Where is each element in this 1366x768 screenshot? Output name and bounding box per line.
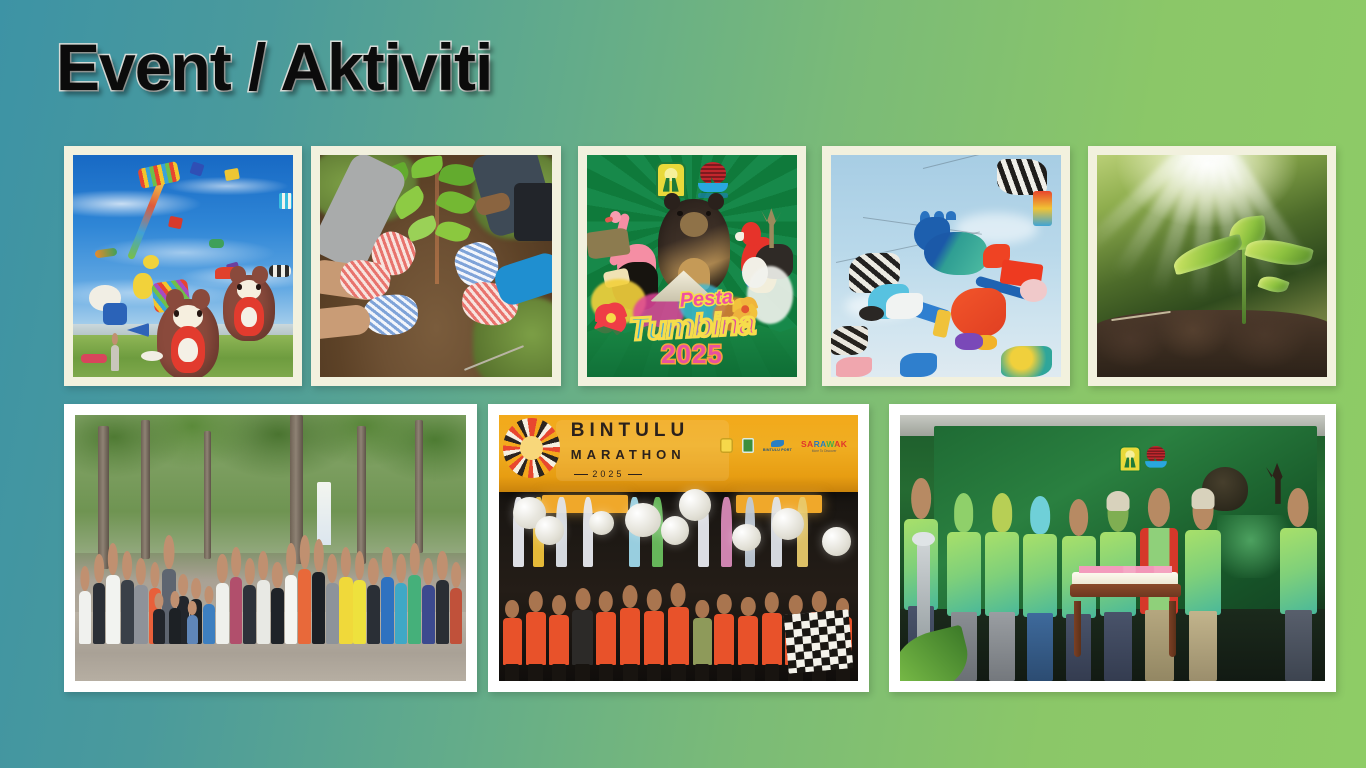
official-far-right — [1280, 484, 1316, 681]
chipmunk-mascot-kite-right — [223, 275, 275, 341]
sun-bear-illustration — [658, 199, 729, 292]
gallery-frame-bintulu-marathon[interactable]: BINTULU MARATHON 2025 BINTULU PORT SARAW… — [488, 404, 869, 692]
seahorse-fin — [946, 211, 956, 221]
kite-blue-shirt — [103, 303, 127, 325]
official-head — [1148, 488, 1170, 527]
mascot-red-belly — [171, 326, 206, 372]
backdrop-logo-row — [1119, 446, 1167, 472]
participant — [79, 591, 91, 644]
kite-pale-pink-ball — [1020, 279, 1048, 301]
sarawak-label: SARAWAK — [801, 439, 847, 449]
official-shirt — [1280, 528, 1316, 615]
sunburst-logo-icon — [503, 418, 560, 478]
participant-child — [153, 609, 165, 644]
banner-title-bintulu: BINTULU — [571, 420, 689, 442]
gallery-frame-seedling[interactable] — [1088, 146, 1336, 386]
table-top — [1070, 584, 1181, 598]
macaw-head — [741, 222, 760, 246]
participant — [450, 588, 463, 644]
globe-icon — [1147, 446, 1166, 462]
sarawak-tourism-logo: SARAWAK More To Discover — [801, 439, 847, 453]
participant — [134, 585, 147, 644]
participant — [216, 583, 229, 644]
official-head — [1288, 488, 1309, 527]
table-leg-right — [1169, 601, 1176, 657]
participant — [298, 569, 311, 643]
official-head-cap — [1192, 491, 1213, 530]
bear-eye-left — [677, 211, 683, 217]
photo-tree-planting-hands — [320, 155, 552, 377]
participant — [230, 577, 243, 644]
photo-animal-kites-sky — [831, 155, 1061, 377]
kite-red-small — [168, 216, 183, 229]
photo-bintulu-marathon: BINTULU MARATHON 2025 BINTULU PORT SARAW… — [499, 415, 858, 681]
gallery-frame-pesta-tumbina[interactable]: Pesta Tumbina 2025 — [578, 146, 806, 386]
gallery-frame-tree-planting[interactable] — [311, 146, 561, 386]
crowd-of-participants — [75, 511, 466, 644]
participant — [312, 572, 325, 644]
wave-icon — [698, 183, 728, 192]
kite-dark-blob — [859, 306, 884, 322]
sapling-leaf — [435, 185, 475, 219]
participant — [408, 575, 421, 644]
sapling-leaf — [405, 215, 439, 242]
photo-seedling-soil — [1097, 155, 1327, 377]
feather-flag — [721, 497, 732, 566]
participant — [203, 604, 215, 644]
participant-child — [187, 615, 198, 644]
kite-smiley-round — [143, 255, 159, 269]
photo-kite-festival-mascots — [73, 155, 293, 377]
official-trousers — [1285, 610, 1312, 681]
sapling-leaf — [434, 216, 470, 245]
participant — [395, 583, 408, 644]
official-head-scarf — [1030, 496, 1050, 534]
sarawak-tagline: More To Discover — [812, 449, 837, 453]
white-balloon — [822, 527, 851, 556]
runner — [644, 611, 664, 665]
kite-yellow-bear — [133, 273, 153, 299]
runner — [714, 614, 734, 665]
official-head — [911, 478, 931, 519]
bear-ear-left — [664, 193, 680, 210]
official-man-cap-2 — [1185, 487, 1221, 681]
official-shirt — [1023, 534, 1057, 617]
runner — [596, 612, 616, 665]
participant — [285, 575, 298, 644]
official-trousers — [989, 612, 1015, 681]
mascot-eye-right — [256, 284, 261, 289]
gallery-frame-community-run[interactable] — [64, 404, 477, 692]
banner-title-year: 2025 — [592, 469, 624, 479]
globe-wave-logo — [1145, 446, 1167, 472]
macaw-beak — [735, 232, 744, 242]
kite-dark-tube — [269, 265, 291, 277]
official-head — [1069, 499, 1089, 536]
ground-kite-pile — [81, 354, 107, 363]
mascot-eye-left — [174, 310, 180, 316]
mascot-eye-left — [237, 284, 242, 289]
official-head-cap — [1107, 493, 1128, 531]
participant — [271, 588, 284, 644]
participant — [367, 585, 380, 644]
black-bag — [514, 183, 552, 241]
wave-icon — [1145, 461, 1167, 467]
kite-teal-yellow-bottom — [1001, 346, 1052, 377]
white-balloon — [679, 489, 711, 521]
banner-title-marathon: MARATHON — [571, 447, 686, 462]
kite-white-body — [886, 293, 923, 320]
page-title: Event / Aktiviti — [56, 33, 492, 102]
white-balloon — [625, 503, 661, 538]
runner — [526, 612, 546, 665]
kite-tail-rainbow-top — [1033, 191, 1051, 227]
marathon-start-arch-banner: BINTULU MARATHON 2025 BINTULU PORT SARAW… — [499, 415, 858, 492]
runner — [572, 610, 593, 665]
photo-community-run-crowd — [75, 415, 466, 681]
participant — [339, 577, 352, 644]
official-head-scarf — [954, 493, 974, 531]
participant — [381, 577, 394, 644]
official-shirt — [947, 532, 981, 616]
participant — [353, 580, 366, 644]
white-balloon — [535, 516, 564, 545]
official-shirt — [1185, 530, 1221, 615]
checkered-flag — [784, 609, 853, 673]
mascot-red-belly — [234, 297, 263, 335]
kite-green-blob — [209, 239, 224, 248]
runner — [762, 613, 782, 665]
table-leg-left — [1074, 601, 1081, 657]
kite-blue-bottom — [900, 353, 937, 377]
runner — [503, 618, 522, 665]
participant — [93, 583, 106, 644]
banner-sponsor-logos: BINTULU PORT SARAWAK More To Discover — [720, 438, 847, 453]
official-shirt — [985, 532, 1019, 616]
sarawak-state-crest-icon — [720, 438, 733, 453]
photo-cake-cutting-ceremony — [900, 415, 1325, 681]
official-head-scarf — [992, 493, 1012, 531]
bintulu-development-authority-icon — [742, 438, 754, 453]
kite-cyan-strip — [279, 193, 292, 209]
participant — [106, 575, 119, 644]
participant — [257, 580, 270, 644]
poster-title-year: 2025 — [587, 341, 797, 367]
gallery-frame-cake-ceremony[interactable] — [889, 404, 1336, 692]
globe-icon — [700, 162, 726, 184]
bear-eye-right — [706, 211, 712, 217]
runner — [668, 607, 689, 666]
runner — [620, 608, 641, 665]
official-woman-3 — [1023, 492, 1057, 681]
spectator-figure — [111, 345, 119, 371]
bear-snout — [680, 212, 709, 236]
chipmunk-mascot-kite-center — [157, 299, 219, 377]
participant — [436, 580, 449, 644]
bintulu-council-shield-logo — [1119, 446, 1141, 472]
sleeve-skin-left-lower — [320, 304, 371, 341]
seedling-plant — [1198, 217, 1290, 324]
official-woman-2 — [985, 489, 1019, 681]
kite-pink-fish-bottom — [836, 357, 873, 377]
kite-purple-small — [955, 333, 983, 351]
feather-flag — [583, 497, 594, 566]
seedling-leaf-small — [1257, 272, 1290, 296]
participant — [121, 580, 134, 644]
white-balloon — [732, 524, 761, 551]
bintulu-port-label: BINTULU PORT — [763, 448, 792, 452]
mascot-eye-right — [197, 310, 203, 316]
runner — [549, 615, 568, 665]
participant — [243, 585, 256, 644]
kite-black-bird-left — [831, 326, 868, 355]
white-balloon — [589, 511, 614, 535]
port-swoosh-icon — [771, 440, 784, 447]
official-trousers — [1027, 613, 1053, 681]
ground-white-kite — [141, 351, 163, 361]
runner — [738, 616, 758, 665]
white-balloon — [772, 508, 804, 540]
poster-logo-row — [587, 162, 797, 198]
cake-table — [1070, 572, 1181, 657]
photo-pesta-tumbina-poster: Pesta Tumbina 2025 — [587, 155, 797, 377]
runner — [693, 618, 712, 665]
participant-child — [169, 608, 181, 644]
kite-black-white-top — [997, 159, 1048, 195]
glove-blue-left-lower — [363, 293, 420, 337]
kite-orange-creature — [951, 288, 1006, 337]
participant — [326, 583, 339, 644]
bear-ear-right — [708, 193, 724, 210]
participant — [422, 585, 435, 644]
seahorse-body — [924, 232, 987, 275]
gallery-frame-kite-festival-mascots[interactable] — [64, 146, 302, 386]
bintulu-port-logo: BINTULU PORT — [763, 440, 792, 452]
gallery-frame-animal-kites[interactable] — [822, 146, 1070, 386]
official-trousers — [1189, 611, 1216, 681]
